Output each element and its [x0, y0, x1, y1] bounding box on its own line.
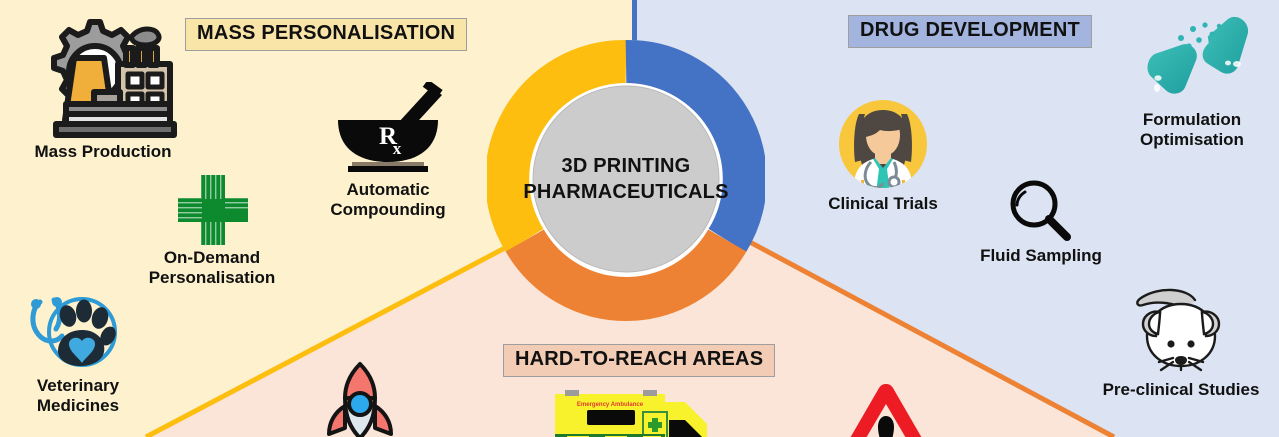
item-fluid-sampling: Fluid Sampling [966, 178, 1116, 266]
svg-text:x: x [393, 139, 402, 158]
item-label: Veterinary Medicines [8, 376, 148, 416]
item-on-demand-personalisation: On-Demand Personalisation [127, 172, 297, 288]
item-label: Automatic Compounding [313, 180, 463, 220]
section-title-drug-development: DRUG DEVELOPMENT [848, 15, 1092, 48]
item-label: Clinical Trials [818, 194, 948, 214]
item-clinical-trials: Clinical Trials [818, 96, 948, 214]
item-mass-production: Mass Production [8, 12, 198, 162]
item-rocket [312, 360, 408, 437]
item-ambulance: Emergency Ambulance [546, 388, 716, 437]
paw-stethoscope-icon [24, 296, 132, 374]
section-title-mass-personalisation: MASS PERSONALISATION [185, 18, 467, 51]
item-formulation-optimisation: Formulation Optimisation [1112, 16, 1272, 150]
capsules-icon [1133, 16, 1251, 108]
warning-triangle-icon [831, 382, 941, 437]
ambulance-body-text: Emergency Ambulance [577, 402, 644, 408]
mortar-pestle-rx-icon: R x [328, 82, 448, 178]
mouse-icon [1117, 282, 1245, 378]
magnifier-icon [1006, 178, 1076, 244]
item-pre-clinical-studies: Pre-clinical Studies [1086, 282, 1276, 400]
item-label: Formulation Optimisation [1112, 110, 1272, 150]
central-donut: 3D PRINTING PHARMACEUTICALS [487, 26, 765, 332]
rocket-icon [319, 360, 401, 437]
item-label: Fluid Sampling [966, 246, 1116, 266]
donut-hub [533, 86, 719, 272]
item-label: Mass Production [8, 142, 198, 162]
item-automatic-compounding: R x Automatic Compounding [313, 82, 463, 220]
ambulance-icon: Emergency Ambulance [547, 388, 715, 437]
section-title-hard-to-reach-areas: HARD-TO-REACH AREAS [503, 344, 775, 377]
doctor-avatar-icon [835, 96, 931, 192]
item-label: On-Demand Personalisation [127, 248, 297, 288]
item-veterinary-medicines: Veterinary Medicines [8, 296, 148, 416]
item-warning [826, 382, 946, 437]
factory-icon [28, 12, 178, 140]
green-cross-icon [175, 172, 249, 246]
infographic-canvas: MASS PERSONALISATION DRUG DEVELOPMENT HA… [0, 0, 1279, 437]
item-label: Pre-clinical Studies [1086, 380, 1276, 400]
